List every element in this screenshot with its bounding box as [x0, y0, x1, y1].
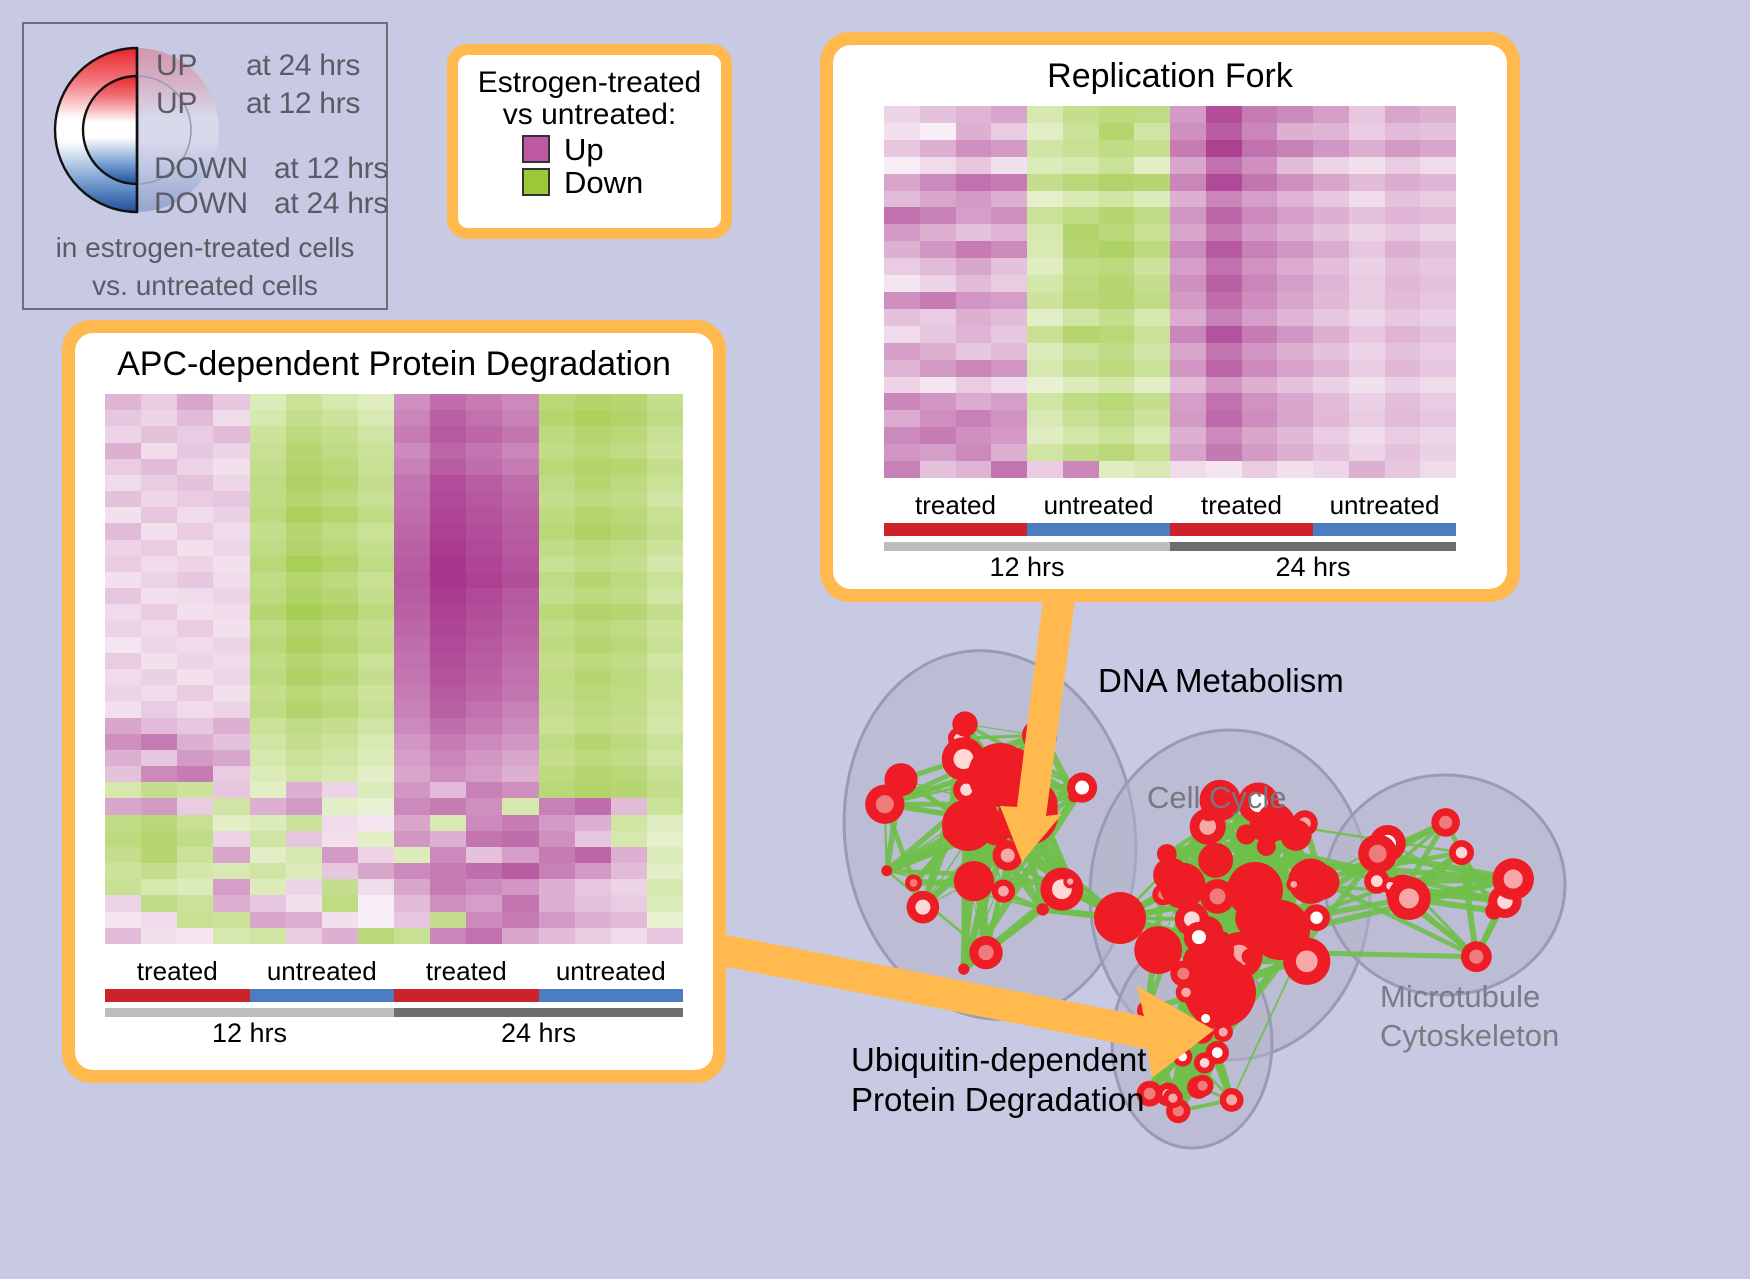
heatmap-cell — [105, 912, 141, 928]
network-node-core — [998, 886, 1009, 897]
heatmap-cell — [1134, 393, 1170, 410]
heatmap-cell — [322, 750, 358, 766]
network-node-core — [1067, 878, 1073, 884]
heatmap-cell — [250, 394, 286, 410]
heatmap-cell — [539, 475, 575, 491]
heatmap-cell — [1206, 343, 1242, 360]
heatmap-cell — [1134, 123, 1170, 140]
heatmap-cell — [430, 847, 466, 863]
rf-time-label-1: 24 hrs — [1170, 552, 1456, 583]
heatmap-cell — [611, 863, 647, 879]
heatmap-cell — [466, 912, 502, 928]
heatmap-cell — [250, 734, 286, 750]
heatmap-cell — [502, 782, 538, 798]
heatmap-cell — [141, 879, 177, 895]
heatmap-cell — [647, 410, 683, 426]
heatmap-cell — [1242, 275, 1278, 292]
heatmap-cell — [1242, 207, 1278, 224]
network-node-core — [1178, 1052, 1187, 1061]
heatmap-cell — [991, 123, 1027, 140]
heatmap-cell — [1099, 292, 1135, 309]
heatmap-cell — [1420, 123, 1456, 140]
heatmap-cell — [250, 588, 286, 604]
heatmap-cell — [1277, 427, 1313, 444]
heatmap-cell — [1206, 241, 1242, 258]
heatmap-cell — [920, 241, 956, 258]
heatmap-cell — [322, 653, 358, 669]
heatmap-cell — [1099, 377, 1135, 394]
heatmap-cell — [466, 572, 502, 588]
heatmap-cell — [539, 685, 575, 701]
network-node-core — [1310, 912, 1322, 924]
heatmap-cell — [322, 685, 358, 701]
heatmap-cell — [1242, 241, 1278, 258]
heatmap-cell — [213, 459, 249, 475]
heatmap-cell — [105, 815, 141, 831]
heatmap-cell — [394, 782, 430, 798]
heatmap-cell — [1063, 393, 1099, 410]
heatmap-cell — [322, 443, 358, 459]
heatmap-cell — [1027, 106, 1063, 123]
heatmap-cell — [394, 895, 430, 911]
heatmap-cell — [1385, 292, 1421, 309]
heatmap-cell — [1277, 393, 1313, 410]
heatmap-cell — [1277, 106, 1313, 123]
heatmap-cell — [322, 588, 358, 604]
heatmap-cell — [250, 523, 286, 539]
heatmap-cell — [358, 928, 394, 944]
heatmap-cell — [991, 140, 1027, 157]
heatmap-cell — [177, 507, 213, 523]
heatmap-cell — [250, 750, 286, 766]
heatmap-cell — [1206, 393, 1242, 410]
panel-apc-inner: APC-dependent Protein Degradation treate… — [75, 333, 713, 1070]
heatmap-cell — [502, 863, 538, 879]
network-node — [952, 711, 977, 736]
heatmap-cell — [956, 343, 992, 360]
heatmap-cell — [1420, 343, 1456, 360]
heatmap-cell — [213, 556, 249, 572]
heatmap-cell — [1063, 157, 1099, 174]
heatmap-cell — [1027, 140, 1063, 157]
apc-time-labels: 12 hrs 24 hrs — [105, 1018, 683, 1049]
network-node-core — [1198, 1081, 1208, 1091]
heatmap-cell — [358, 507, 394, 523]
heatmap-cell — [1206, 309, 1242, 326]
heatmap-cell — [1420, 140, 1456, 157]
heatmap-cell — [213, 879, 249, 895]
heatmap-cell — [1134, 106, 1170, 123]
heatmap-cell — [1134, 461, 1170, 478]
heatmap-cell — [956, 258, 992, 275]
heatmap-cell — [286, 863, 322, 879]
heatmap-cell — [956, 309, 992, 326]
heatmap-cell — [1099, 360, 1135, 377]
heatmap-cell — [1027, 157, 1063, 174]
heatmap-cell — [213, 620, 249, 636]
heatmap-cell — [611, 540, 647, 556]
heatmap-cell — [1277, 292, 1313, 309]
heatmap-cell — [956, 461, 992, 478]
heatmap-cell — [322, 782, 358, 798]
heatmap-cell — [1349, 224, 1385, 241]
heatmap-cell — [1206, 360, 1242, 377]
network-node-core — [1469, 950, 1483, 964]
heatmap-cell — [1027, 461, 1063, 478]
heatmap-cell — [177, 394, 213, 410]
heatmap-cell — [502, 604, 538, 620]
heatmap-cell — [647, 895, 683, 911]
heatmap-cell — [466, 831, 502, 847]
heatmap-cell — [611, 491, 647, 507]
apc-time-label-1: 24 hrs — [394, 1018, 683, 1049]
panel-apc-degradation: APC-dependent Protein Degradation treate… — [62, 320, 726, 1083]
heatmap-cell — [1170, 258, 1206, 275]
heatmap-cell — [1349, 393, 1385, 410]
heatmap-cell — [105, 604, 141, 620]
heatmap-cell — [575, 459, 611, 475]
heatmap-cell — [250, 766, 286, 782]
heatmap-cell — [177, 410, 213, 426]
wheel-caption-line2: vs. untreated cells — [24, 270, 386, 302]
heatmap-cell — [884, 275, 920, 292]
heatmap-cell — [1385, 444, 1421, 461]
heatmap-cell — [611, 426, 647, 442]
heatmap-cell — [466, 443, 502, 459]
heatmap-cell — [539, 766, 575, 782]
apc-group-name-2: treated — [394, 956, 539, 987]
heatmap-cell — [956, 410, 992, 427]
heatmap-cell — [466, 394, 502, 410]
heatmap-cell — [956, 360, 992, 377]
heatmap-cell — [502, 734, 538, 750]
heatmap-cell — [539, 426, 575, 442]
heatmap-cell — [647, 475, 683, 491]
heatmap-cell — [539, 847, 575, 863]
heatmap-cell — [502, 653, 538, 669]
heatmap-cell — [213, 750, 249, 766]
network-node-core — [1212, 1047, 1223, 1058]
heatmap-cell — [1313, 377, 1349, 394]
apc-treatment-bar-2 — [394, 989, 539, 1002]
heatmap-cell — [1134, 343, 1170, 360]
heatmap-cell — [430, 637, 466, 653]
heatmap-cell — [141, 394, 177, 410]
heatmap-cell — [1170, 224, 1206, 241]
network-node-core — [1200, 1058, 1210, 1068]
heatmap-cell — [1170, 343, 1206, 360]
heatmap-cell — [1206, 292, 1242, 309]
heatmap-cell — [1277, 191, 1313, 208]
heatmap-cell — [1277, 410, 1313, 427]
heatmap-cell — [286, 394, 322, 410]
rf-time-label-0: 12 hrs — [884, 552, 1170, 583]
heatmap-cell — [358, 394, 394, 410]
heatmap-cell — [1277, 140, 1313, 157]
heatmap-cell — [177, 798, 213, 814]
apc-time-bar — [105, 1008, 683, 1017]
heatmap-cell — [575, 718, 611, 734]
heatmap-cell — [177, 523, 213, 539]
heatmap-cell — [611, 394, 647, 410]
heatmap-cell — [1420, 393, 1456, 410]
heatmap-cell — [1134, 140, 1170, 157]
rf-treatment-bar-3 — [1313, 523, 1456, 536]
heatmap-cell — [575, 879, 611, 895]
heatmap-cell — [394, 928, 430, 944]
heatmap-cell — [141, 507, 177, 523]
heatmap-cell — [1099, 140, 1135, 157]
heatmap-cell — [1313, 410, 1349, 427]
heatmap-cell — [1242, 360, 1278, 377]
heatmap-cell — [105, 556, 141, 572]
heatmap-cell — [105, 701, 141, 717]
heatmap-cell — [1313, 123, 1349, 140]
heatmap-cell — [1206, 410, 1242, 427]
heatmap-cell — [286, 766, 322, 782]
heatmap-cell — [575, 766, 611, 782]
colorwheel-legend: UP at 24 hrs UP at 12 hrs DOWN at 12 hrs… — [22, 22, 388, 310]
heatmap-cell — [430, 507, 466, 523]
rf-group-name-2: treated — [1170, 490, 1313, 521]
heatmap-cell — [1385, 106, 1421, 123]
heatmap-cell — [286, 912, 322, 928]
network-node-core — [1001, 848, 1015, 862]
heatmap-cell — [466, 588, 502, 604]
heatmap-cell — [286, 410, 322, 426]
heatmap-cell — [430, 750, 466, 766]
heatmap-cell — [1027, 174, 1063, 191]
heatmap-cell — [213, 588, 249, 604]
heatmap-cell — [286, 847, 322, 863]
heatmap-cell — [394, 847, 430, 863]
heatmap-cell — [1420, 241, 1456, 258]
heatmap-cell — [1027, 275, 1063, 292]
heatmap-cell — [322, 637, 358, 653]
cluster-label-ubiquitin-degradation: Ubiquitin-dependent Protein Degradation — [851, 1040, 1146, 1119]
heatmap-cell — [250, 443, 286, 459]
heatmap-cell — [177, 540, 213, 556]
heatmap-cell — [322, 491, 358, 507]
heatmap-cell — [502, 540, 538, 556]
ubiquitin-label-line1: Ubiquitin-dependent — [851, 1040, 1146, 1080]
heatmap-cell — [141, 847, 177, 863]
heatmap-cell — [647, 540, 683, 556]
heatmap-cell — [430, 620, 466, 636]
heatmap-cell — [539, 604, 575, 620]
network-node — [1030, 724, 1057, 751]
heatmap-cell — [502, 443, 538, 459]
heatmap-cell — [1349, 241, 1385, 258]
heatmap-cell — [1099, 123, 1135, 140]
heatmap-cell — [1349, 410, 1385, 427]
heatmap-cell — [430, 394, 466, 410]
heatmap-cell — [177, 734, 213, 750]
heatmap-cell — [1349, 343, 1385, 360]
heatmap-cell — [286, 685, 322, 701]
heatmap-cell — [466, 895, 502, 911]
heatmap-cell — [466, 928, 502, 944]
heatmap-cell — [1349, 377, 1385, 394]
heatmap-cell — [358, 669, 394, 685]
cluster-label-dna-metabolism: DNA Metabolism — [1098, 662, 1344, 700]
heatmap-cell — [1385, 207, 1421, 224]
heatmap-cell — [1420, 326, 1456, 343]
heatmap-cell — [647, 556, 683, 572]
heatmap-cell — [213, 847, 249, 863]
heatmap-cell — [250, 491, 286, 507]
rf-time-bar-1 — [1170, 542, 1456, 551]
heatmap-cell — [647, 588, 683, 604]
heatmap-cell — [611, 701, 647, 717]
heatmap-cell — [1349, 157, 1385, 174]
heatmap-cell — [286, 815, 322, 831]
heatmap-cell — [286, 653, 322, 669]
heatmap-cell — [394, 459, 430, 475]
heatmap-cell — [286, 701, 322, 717]
heatmap-cell — [1385, 157, 1421, 174]
heatmap-cell — [105, 685, 141, 701]
heatmap-cell — [466, 701, 502, 717]
heatmap-cell — [430, 928, 466, 944]
heatmap-cell — [286, 604, 322, 620]
heatmap-cell — [466, 863, 502, 879]
heatmap-cell — [466, 637, 502, 653]
heatmap-cell — [1277, 224, 1313, 241]
heatmap-cell — [466, 556, 502, 572]
heatmap-cell — [1313, 461, 1349, 478]
rf-group-name-1: untreated — [1027, 490, 1170, 521]
heatmap-cell — [884, 241, 920, 258]
heatmap-cell — [647, 620, 683, 636]
heatmap-cell — [1420, 444, 1456, 461]
heatmap-cell — [1385, 224, 1421, 241]
heatmap-cell — [177, 620, 213, 636]
heatmap-cell — [322, 604, 358, 620]
heatmap-cell — [920, 410, 956, 427]
rf-group-names: treated untreated treated untreated — [884, 490, 1456, 521]
heatmap-cell — [575, 637, 611, 653]
heatmap-cell — [884, 360, 920, 377]
heatmap-cell — [920, 377, 956, 394]
heatmap-cell — [502, 507, 538, 523]
heatmap-cell — [213, 653, 249, 669]
heatmap-cell — [466, 718, 502, 734]
heatmap-cell — [430, 669, 466, 685]
heatmap-cell — [502, 491, 538, 507]
heatmap-cell — [539, 879, 575, 895]
heatmap-cell — [575, 750, 611, 766]
heatmap-cell — [1063, 360, 1099, 377]
heatmap-cell — [466, 669, 502, 685]
heatmap-cell — [250, 426, 286, 442]
heatmap-cell — [1027, 410, 1063, 427]
network-node — [1250, 900, 1310, 960]
heatmap-cell — [1170, 292, 1206, 309]
heatmap-cell — [141, 475, 177, 491]
heatmap-cell — [539, 491, 575, 507]
heatmap-cell — [430, 815, 466, 831]
heatmap-cell — [1313, 140, 1349, 157]
heatmap-cell — [213, 895, 249, 911]
heatmap-cell — [322, 928, 358, 944]
network-node-core — [1504, 870, 1523, 889]
heatmap-cell — [884, 174, 920, 191]
network-node-core — [915, 900, 930, 915]
heatmap-cell — [141, 782, 177, 798]
heatmap-cell — [358, 879, 394, 895]
heatmap-cell — [213, 685, 249, 701]
heatmap-cell — [394, 491, 430, 507]
heatmap-cell — [1063, 174, 1099, 191]
heatmap-cell — [575, 669, 611, 685]
heatmap-cell — [322, 620, 358, 636]
network-node — [954, 861, 994, 901]
heatmap-cell — [1385, 360, 1421, 377]
heatmap-cell — [322, 540, 358, 556]
network-node — [1157, 844, 1177, 864]
heatmap-cell — [920, 427, 956, 444]
heatmap-cell — [141, 604, 177, 620]
heatmap-cell — [1385, 309, 1421, 326]
heatmap-cell — [502, 410, 538, 426]
up-color-swatch — [522, 135, 550, 163]
heatmap-cell — [286, 895, 322, 911]
heatmap-cell — [575, 475, 611, 491]
heatmap-cell — [647, 815, 683, 831]
network-node-core — [1201, 1014, 1210, 1023]
network-node-core — [1369, 845, 1387, 863]
heatmap-cell — [1134, 309, 1170, 326]
heatmap-cell — [1063, 140, 1099, 157]
heatmap-cell — [539, 669, 575, 685]
network-node-core — [1296, 950, 1318, 972]
down-color-swatch — [522, 168, 550, 196]
network-node-core — [1371, 875, 1383, 887]
heatmap-cell — [177, 928, 213, 944]
heatmap-cell — [105, 734, 141, 750]
heatmap-replication-fork — [884, 106, 1456, 478]
heatmap-cell — [1206, 444, 1242, 461]
heatmap-cell — [1385, 410, 1421, 427]
network-node-core — [1456, 847, 1467, 858]
heatmap-cell — [575, 491, 611, 507]
apc-time-bar-1 — [394, 1008, 683, 1017]
heatmap-cell — [141, 734, 177, 750]
heatmap-cell — [1420, 258, 1456, 275]
heatmap-cell — [1206, 224, 1242, 241]
network-node-core — [1219, 1028, 1228, 1037]
heatmap-cell — [213, 507, 249, 523]
heatmap-cell — [286, 734, 322, 750]
heatmap-cell — [250, 928, 286, 944]
heatmap-cell — [322, 572, 358, 588]
heatmap-cell — [250, 540, 286, 556]
heatmap-cell — [213, 491, 249, 507]
heatmap-cell — [647, 572, 683, 588]
heatmap-cell — [430, 701, 466, 717]
heatmap-cell — [141, 523, 177, 539]
heatmap-cell — [1099, 326, 1135, 343]
heatmap-cell — [394, 572, 430, 588]
heatmap-cell — [611, 847, 647, 863]
heatmap-cell — [1420, 275, 1456, 292]
heatmap-cell — [956, 224, 992, 241]
heatmap-cell — [250, 912, 286, 928]
heatmap-cell — [322, 718, 358, 734]
heatmap-cell — [1420, 292, 1456, 309]
heatmap-cell — [611, 653, 647, 669]
